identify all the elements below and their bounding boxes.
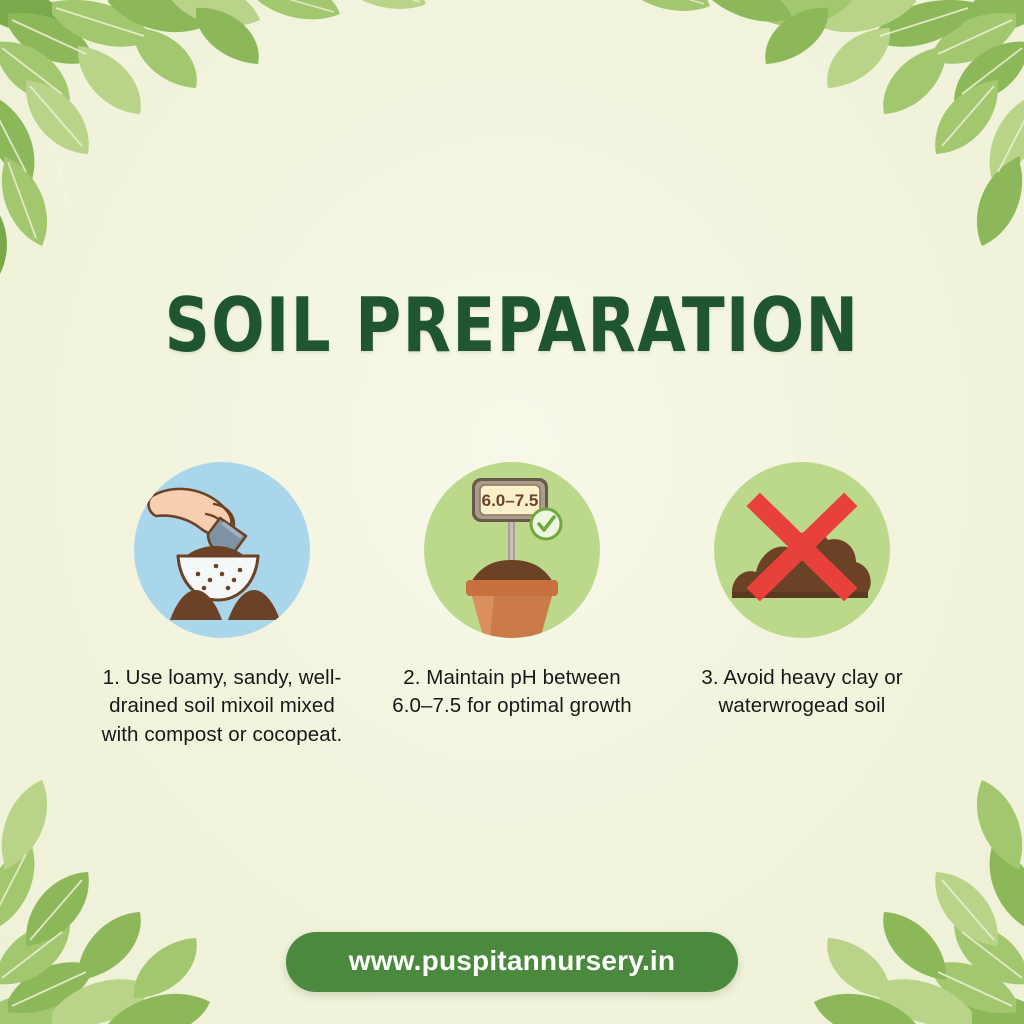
info-card-3: 3. Avoid heavy clay or waterwrogead soil [657,462,947,741]
info-card-1-caption: 1. Use loamy, sandy, well-drained soil m… [97,664,347,749]
ph-sign-label: 6.0–7.5 [482,491,539,510]
page-title: SOIL PREPARATION [36,286,988,365]
info-card-1: 1. Use loamy, sandy, well-drained soil m… [77,462,367,769]
info-card-2: 6.0–7.5 2. Maintain pH between 6.0–7.5 f… [367,462,657,741]
info-cards-row: 1. Use loamy, sandy, well-drained soil m… [0,462,1024,769]
info-card-3-caption: 3. Avoid heavy clay or waterwrogead soil [677,664,927,721]
hand-scooping-soil-into-bowl-icon [134,462,310,638]
leaf-decoration-top-right [712,0,1024,318]
website-url-text: www.puspitannursery.in [330,945,694,977]
leaf-decoration-top-band [240,0,800,86]
potted-plant-ph-sign-icon: 6.0–7.5 [424,462,600,638]
leaf-decoration-top-left [0,0,312,318]
poster-canvas: SOIL PREPARATION [0,0,1024,1024]
soil-mound-crossed-out-icon [714,462,890,638]
info-card-2-caption: 2. Maintain pH between 6.0–7.5 for optim… [387,664,637,721]
website-footer-pill[interactable]: www.puspitannursery.in [286,932,738,992]
